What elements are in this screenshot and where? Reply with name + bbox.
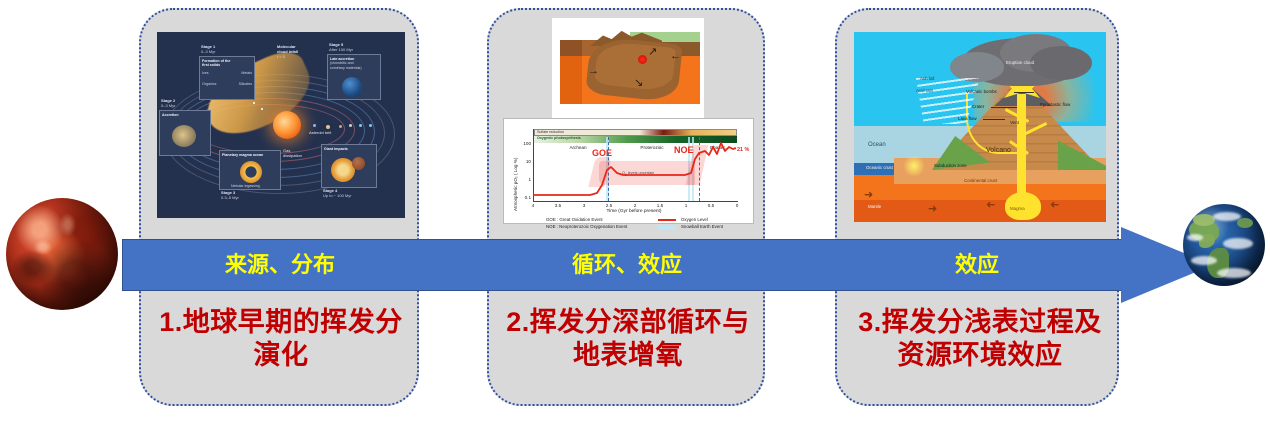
ssf-stage5-box: Late accretion (chondritic andcometary m…	[327, 54, 381, 100]
panel-3-caption: 3.挥发分浅表过程及资源环境效应	[854, 306, 1106, 372]
panel-3-figure: ➜ ➜ ➜ ➜ Eruption cloud Ash fall Acid rai…	[854, 32, 1106, 222]
volcano-label-volcanic-bombs: Volcanic bombs	[966, 89, 997, 94]
panel-1-figure: Stage 10–3 Myr Formation of thefirst sol…	[157, 32, 405, 218]
ssf-gas-dissipation-label: Gasdissipation	[283, 148, 302, 158]
chart-annotation-goe: GOE	[592, 148, 612, 158]
ssf-stage4-caption: Stage 4Up to ~ 100 Myr	[323, 188, 352, 198]
volcano-label-acid-rain: Acid rain	[916, 88, 933, 93]
chart-xtick-3.5: 3.5	[551, 203, 565, 208]
chart-xtick-1: 1	[679, 203, 693, 208]
chart-ytick-0.1: 0.1	[515, 195, 531, 200]
chart-legend-label-snowball: Snowball Earth Event	[681, 224, 723, 229]
chart-xtick-4: 4	[526, 203, 540, 208]
arrow-label-stage-1: 来源、分布	[155, 240, 405, 290]
volcano-label-mantle: Mantle	[868, 204, 881, 209]
chart-21-percent-label: 21 %	[737, 147, 749, 153]
volcano-label-ocean: Ocean	[868, 142, 886, 148]
chart-ytick-1: 1	[515, 177, 531, 182]
chart-oxygen-level-curve	[533, 129, 737, 201]
chart-footnote-goe: GOE : Great Oxidation Event	[546, 217, 603, 222]
chart-xtick-0: 0	[730, 203, 744, 208]
panel-2-figure-oxygen-chart: Atmospheric pO₂ ( Log %) Sulfate reducti…	[503, 118, 754, 224]
modern-earth-icon	[1183, 204, 1265, 286]
panel-2-caption: 2.挥发分深部循环与地表增氧	[503, 306, 753, 372]
chart-uncertainty-note: O2 levels uncertain	[622, 171, 654, 177]
volcano-label-volcano: Volcano	[986, 147, 1011, 154]
volcano-label-vent: Vent	[1010, 120, 1019, 125]
ssf-stage1-box: Formation of thefirst solids IcesMetals …	[199, 56, 255, 100]
slide-canvas: Stage 10–3 Myr Formation of thefirst sol…	[0, 0, 1270, 421]
volcano-label-magma: Magma	[1010, 206, 1025, 211]
panel-2-figure-subduction: → ↗ ← ↘	[552, 18, 704, 118]
arrow-label-stage-3: 效应	[851, 240, 1103, 290]
ssf-stage2-box: Accretion	[159, 110, 211, 156]
chart-x-axis-label: Time (Gyr before present)	[564, 209, 704, 214]
volcano-label-crater: Crater	[972, 104, 984, 109]
volcano-label-ash-fall: Ash fall	[920, 76, 934, 81]
chart-legend-swatch-oxygen	[658, 219, 676, 221]
panel-1[interactable]: Stage 10–3 Myr Formation of thefirst sol…	[139, 8, 419, 406]
chart-y-axis-label: Atmospheric pO₂ ( Log %)	[513, 158, 518, 211]
volcano-label-lava-flow: Lava flow	[958, 116, 977, 121]
volcano-label-pyroclastic-flow: Pyroclastic flow	[1040, 102, 1070, 107]
volcano-label-eruption-cloud: Eruption cloud	[1006, 60, 1034, 65]
ssf-asteroid-belt-label: Asteroid belt	[309, 130, 331, 135]
chart-xtick-0.5: 0.5	[704, 203, 718, 208]
chart-xtick-1.5: 1.5	[653, 203, 667, 208]
ssf-stage3-caption: Stage 30.3–5 Myr	[221, 190, 239, 200]
chart-ytick-10: 10	[515, 159, 531, 164]
ssf-stage4-box: Giant impacts	[321, 144, 377, 188]
chart-annotation-noe: NOE	[674, 145, 694, 155]
volcano-label-subduction-zone: Subduction zone	[934, 163, 967, 168]
chart-xtick-2: 2	[628, 203, 642, 208]
panel-2[interactable]: → ↗ ← ↘ Atmospheric pO₂ ( Log %) Sulfate…	[487, 8, 765, 406]
ssf-stage2-caption: Stage 20–3 Myr	[161, 98, 175, 108]
ssf-infall-caption: Molecularcloud infallt = 0	[277, 44, 298, 60]
chart-legend-swatch-snowball	[658, 225, 676, 230]
chart-xtick-2.5: 2.5	[602, 203, 616, 208]
volcano-label-continental-crust: Continental crust	[964, 178, 997, 183]
early-molten-earth-icon	[6, 198, 118, 310]
ssf-stage3-box: Planetary magma ocean Nebular ingassing	[219, 150, 281, 190]
chart-xtick-3: 3	[577, 203, 591, 208]
ssf-stage1-caption: Stage 10–3 Myr	[201, 44, 215, 54]
chart-legend-label-oxygen: Oxygen Level	[681, 217, 708, 222]
arrow-label-stage-2: 循环、效应	[503, 240, 751, 290]
chart-ytick-100: 100	[515, 141, 531, 146]
chart-footnote-noe: NOE : Neoproterozoic Oxygenation Event	[546, 224, 627, 229]
ssf-stage5-caption: Stage 5After 100 Myr	[329, 42, 353, 52]
volcano-label-oceanic-crust: Oceanic crust	[866, 165, 893, 170]
panel-3[interactable]: ➜ ➜ ➜ ➜ Eruption cloud Ash fall Acid rai…	[835, 8, 1119, 406]
panel-1-caption: 1.地球早期的挥发分演化	[157, 306, 405, 372]
